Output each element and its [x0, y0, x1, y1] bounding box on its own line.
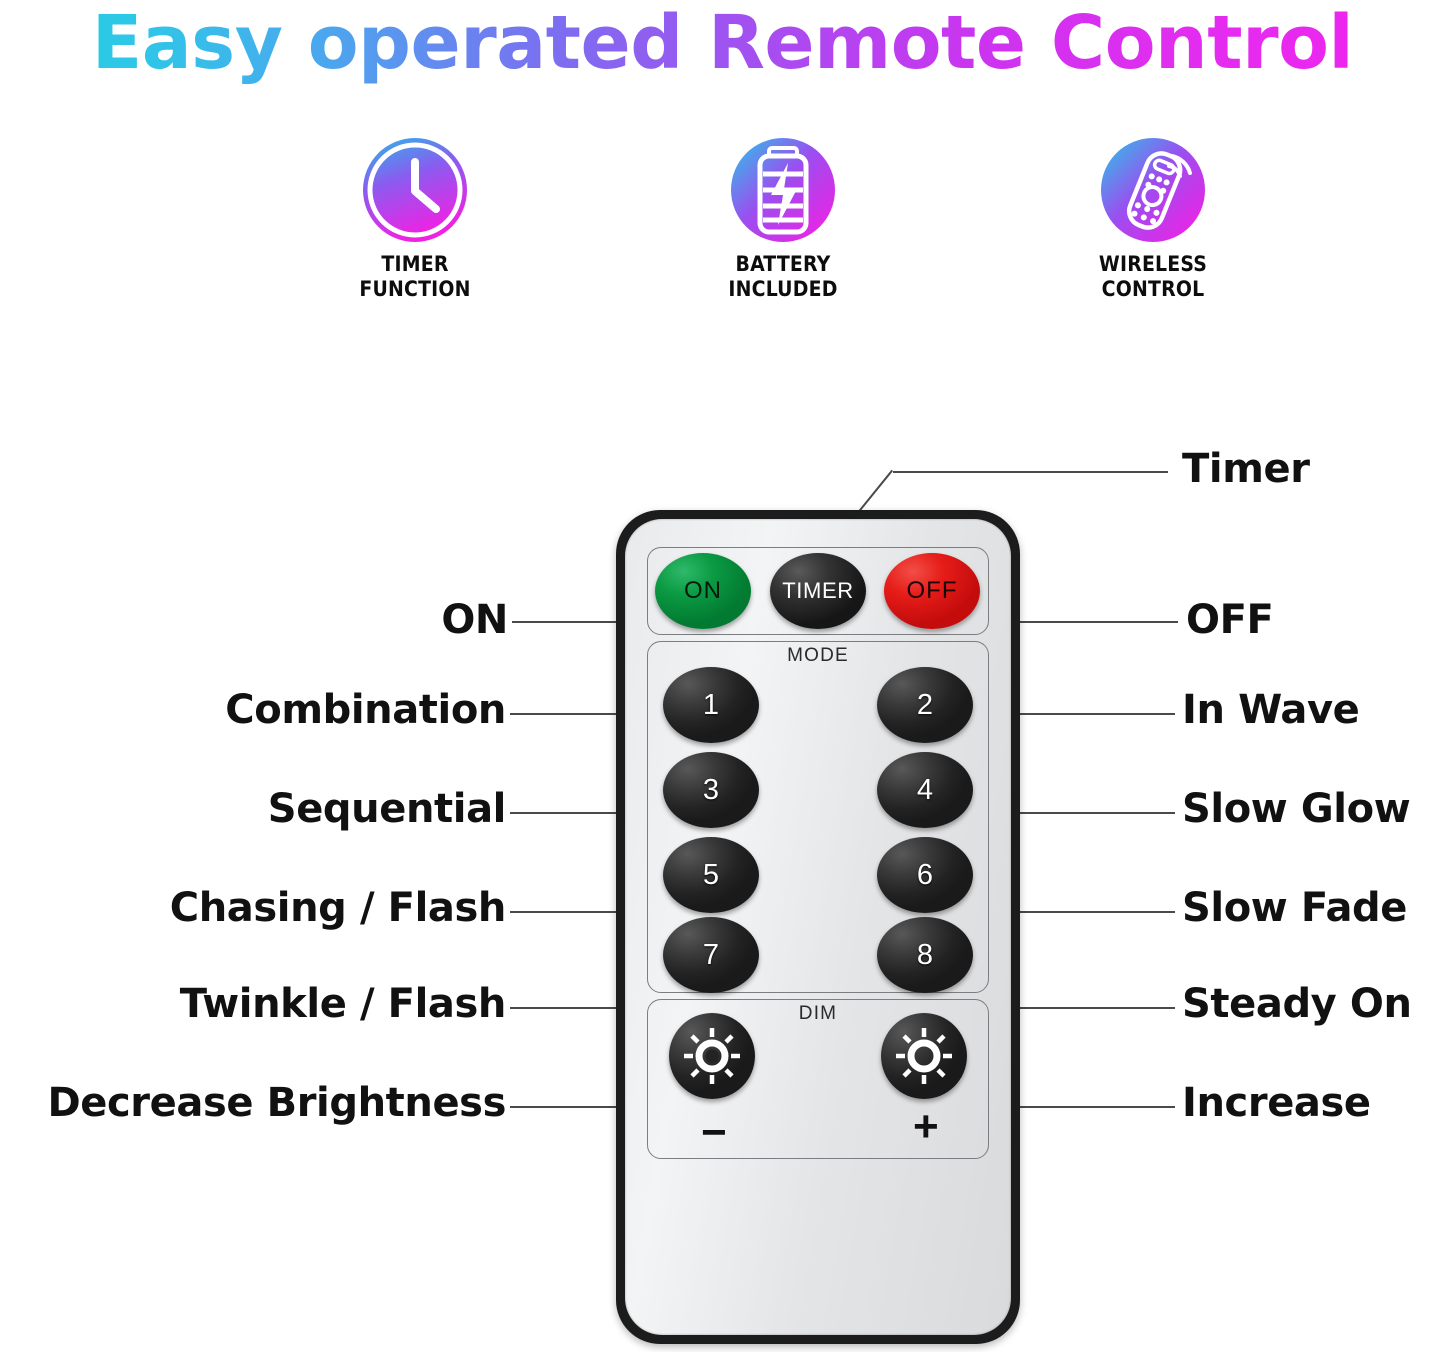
remote-wireless-icon: [1099, 136, 1207, 244]
remote-button-mode-4[interactable]: 4: [877, 752, 973, 828]
remote-button-mode-7[interactable]: 7: [663, 917, 759, 993]
remote-button-mode-3[interactable]: 3: [663, 752, 759, 828]
callout-chasing-flash: Chasing / Flash: [170, 886, 506, 930]
remote-button-dim-increase[interactable]: [881, 1013, 967, 1099]
brightness-low-icon: [682, 1026, 742, 1086]
clock-icon: [361, 136, 469, 244]
page-title: Easy operated Remote Control: [0, 2, 1445, 84]
brightness-high-icon: [894, 1026, 954, 1086]
battery-icon: [729, 136, 837, 244]
remote-button-mode-8[interactable]: 8: [877, 917, 973, 993]
clock-icon-svg: [361, 136, 469, 244]
remote-button-mode-1[interactable]: 1: [663, 667, 759, 743]
callout-timer: Timer: [1182, 447, 1310, 491]
remote-faceplate: MODE DIM ON TIMER OFF 1 2 3 4 5 6 7 8: [625, 519, 1011, 1335]
remote-button-off[interactable]: OFF: [884, 553, 980, 629]
callout-combination: Combination: [225, 688, 506, 732]
feature-timer-label: TIMERFUNCTION: [300, 252, 530, 302]
callout-decrease-brightness: Decrease Brightness: [47, 1081, 506, 1125]
remote-button-mode-6[interactable]: 6: [877, 837, 973, 913]
feature-wireless-control: WIRELESSCONTROL: [1038, 136, 1268, 302]
callout-slow-fade: Slow Fade: [1182, 886, 1407, 930]
battery-icon-svg: [729, 136, 837, 244]
callout-slow-glow: Slow Glow: [1182, 787, 1410, 831]
remote-button-mode-2[interactable]: 2: [877, 667, 973, 743]
remote-button-on[interactable]: ON: [655, 553, 751, 629]
remote-button-timer[interactable]: TIMER: [770, 553, 866, 629]
callout-sequential: Sequential: [268, 787, 506, 831]
dim-increase-sign: +: [913, 1105, 939, 1149]
remote-button-mode-5[interactable]: 5: [663, 837, 759, 913]
remote-control-device: MODE DIM ON TIMER OFF 1 2 3 4 5 6 7 8: [616, 510, 1020, 1344]
callout-increase: Increase: [1182, 1081, 1371, 1125]
callout-on: ON: [441, 598, 508, 642]
remote-wireless-icon-svg: [1099, 136, 1207, 244]
leader-line-timer-h: [893, 471, 1168, 473]
feature-battery-included: BATTERYINCLUDED: [668, 136, 898, 302]
feature-wireless-label: WIRELESSCONTROL: [1038, 252, 1268, 302]
feature-timer-function: TIMERFUNCTION: [300, 136, 530, 302]
dim-decrease-sign: −: [701, 1111, 727, 1155]
callout-in-wave: In Wave: [1182, 688, 1359, 732]
infographic-canvas: Easy operated Remote Control TIMERFUNCTI…: [0, 0, 1445, 1352]
callout-off: OFF: [1186, 598, 1273, 642]
callout-steady-on: Steady On: [1182, 982, 1412, 1026]
remote-button-dim-decrease[interactable]: [669, 1013, 755, 1099]
mode-section-label: MODE: [625, 645, 1011, 667]
callout-twinkle-flash: Twinkle / Flash: [180, 982, 506, 1026]
feature-battery-label: BATTERYINCLUDED: [668, 252, 898, 302]
dim-section-label: DIM: [625, 1003, 1011, 1025]
